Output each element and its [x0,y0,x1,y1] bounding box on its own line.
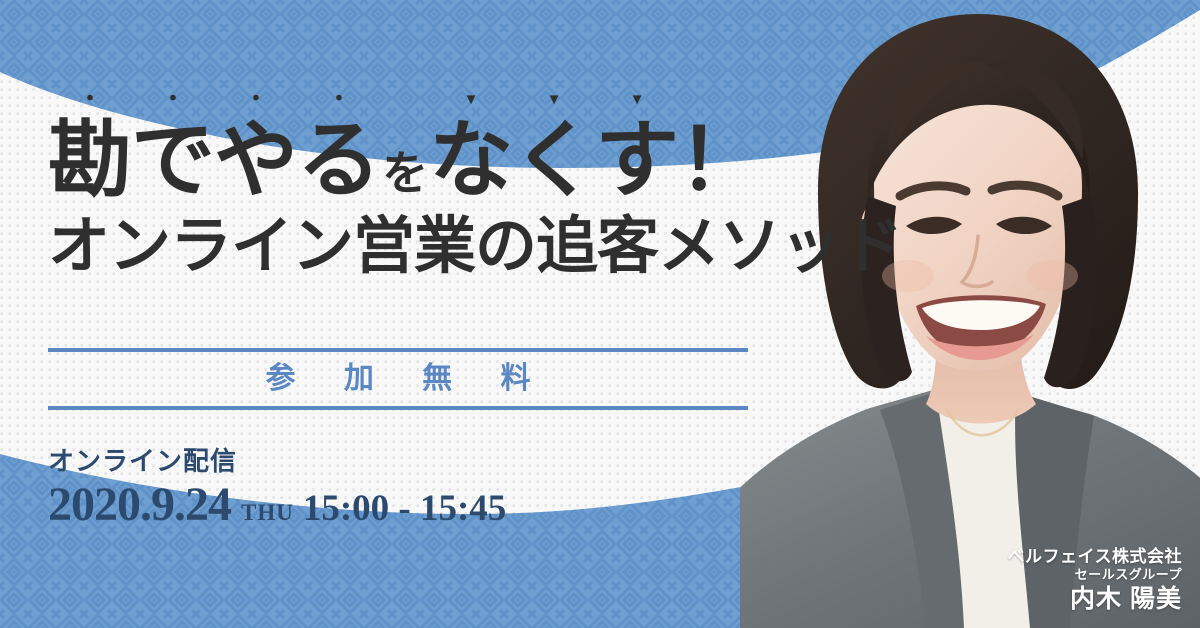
headline-particle: を [380,150,429,202]
schedule-block: オンライン配信 2020.9.24 THU 15:00 - 15:45 [48,446,506,529]
headline-char: す [595,113,678,207]
speaker-credit: ベルフェイス株式会社 セールスグループ 内木 陽美 [1008,547,1183,614]
date-time-row: 2020.9.24 THU 15:00 - 15:45 [48,481,506,529]
headline-char: や [214,113,297,207]
headline-char: で [131,113,214,207]
event-date: 2020.9.24 [48,481,231,529]
headline-char: る [297,113,380,207]
free-admission-block: 参 加 無 料 [48,348,748,410]
emphasis-triangle-icon: ▼ [429,92,512,107]
speaker-portrait-photo [740,0,1200,628]
webinar-banner: ・ 勘 ・ で ・ や ・ る を ▼ な [0,0,1200,628]
text-content: ・ 勘 ・ で ・ や ・ る を ▼ な [0,0,790,628]
headline-line-1: ・ 勘 ・ で ・ や ・ る を ▼ な [48,118,768,202]
emphasis-dot-icon: ・ [48,88,131,110]
emphasis-char-4: ・ る [297,118,380,202]
headline-line-2: オンライン営業の追客メソッド [48,216,768,278]
headline-char: な [429,113,512,207]
event-day-of-week: THU [241,500,294,526]
emphasis-char-5: ▼ な [429,118,512,202]
headline-exclamation: ！ [678,118,761,202]
free-admission-label: 参 加 無 料 [48,352,748,406]
rule-bottom [48,406,748,410]
emphasis-char-3: ・ や [214,118,297,202]
emphasis-triangle-icon: ▼ [512,92,595,107]
headline-char: く [512,113,595,207]
headline-block: ・ 勘 ・ で ・ や ・ る を ▼ な [48,118,768,278]
emphasis-dot-icon: ・ [297,88,380,110]
emphasis-char-1: ・ 勘 [48,118,131,202]
emphasis-dot-icon: ・ [131,88,214,110]
emphasis-triangle-icon: ▼ [595,92,678,107]
event-time: 15:00 - 15:45 [303,490,506,527]
speaker-company: ベルフェイス株式会社 [1008,547,1183,567]
speaker-name: 内木 陽美 [1008,585,1183,615]
headline-char: 勘 [48,113,131,207]
emphasis-char-7: ▼ す [595,118,678,202]
emphasis-dot-icon: ・ [214,88,297,110]
emphasis-char-2: ・ で [131,118,214,202]
speaker-group: セールスグループ [1008,567,1183,582]
emphasis-char-6: ▼ く [512,118,595,202]
delivery-label: オンライン配信 [48,446,506,477]
